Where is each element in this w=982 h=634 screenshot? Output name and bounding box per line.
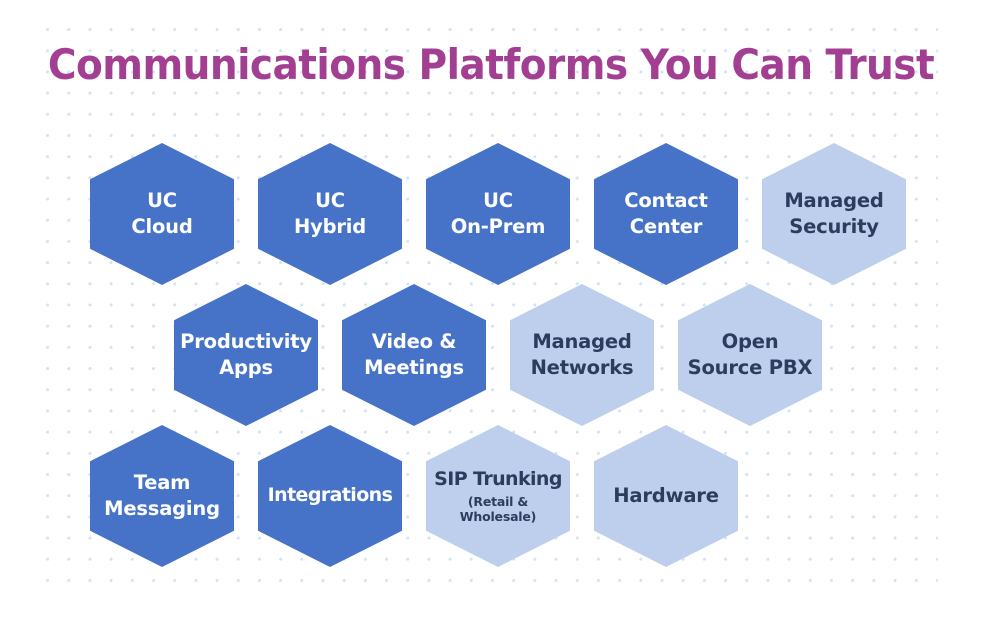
hex-tile-hardware[interactable]: Hardware xyxy=(594,425,738,567)
hex-tile-label: Contact Center xyxy=(624,188,708,240)
hex-tile-label: Team Messaging xyxy=(104,470,220,522)
hex-tile-label: SIP Trunking xyxy=(434,467,562,492)
hex-tile-uc-cloud[interactable]: UC Cloud xyxy=(90,143,234,285)
hex-tile-label: UC Hybrid xyxy=(294,188,366,240)
hex-tile-open-source-pbx[interactable]: Open Source PBX xyxy=(678,284,822,426)
hex-tile-label: UC On-Prem xyxy=(451,188,546,240)
hex-tile-label: UC Cloud xyxy=(131,188,192,240)
hexagon-honeycomb: UC CloudUC HybridUC On-PremContact Cente… xyxy=(0,0,982,634)
hex-tile-managed-security[interactable]: Managed Security xyxy=(762,143,906,285)
hex-tile-label: Productivity Apps xyxy=(180,329,312,381)
infographic-canvas: Communications Platforms You Can Trust U… xyxy=(0,0,982,634)
hex-tile-label: Managed Networks xyxy=(531,329,634,381)
hex-tile-uc-hybrid[interactable]: UC Hybrid xyxy=(258,143,402,285)
hex-tile-managed-networks[interactable]: Managed Networks xyxy=(510,284,654,426)
hex-tile-uc-on-prem[interactable]: UC On-Prem xyxy=(426,143,570,285)
hex-tile-sublabel: (Retail & Wholesale) xyxy=(430,494,566,525)
hex-tile-label: Open Source PBX xyxy=(688,329,813,381)
hex-tile-video-and-meetings[interactable]: Video & Meetings xyxy=(342,284,486,426)
hex-tile-integrations[interactable]: Integrations xyxy=(258,425,402,567)
hex-tile-label: Managed Security xyxy=(784,188,883,240)
hex-tile-productivity-apps[interactable]: Productivity Apps xyxy=(174,284,318,426)
hex-tile-label: Integrations xyxy=(268,483,393,508)
hex-tile-contact-center[interactable]: Contact Center xyxy=(594,143,738,285)
hex-tile-label: Video & Meetings xyxy=(364,329,464,381)
hex-tile-sip-trunking[interactable]: SIP Trunking(Retail & Wholesale) xyxy=(426,425,570,567)
hex-tile-team-messaging[interactable]: Team Messaging xyxy=(90,425,234,567)
hex-tile-label: Hardware xyxy=(613,483,718,509)
